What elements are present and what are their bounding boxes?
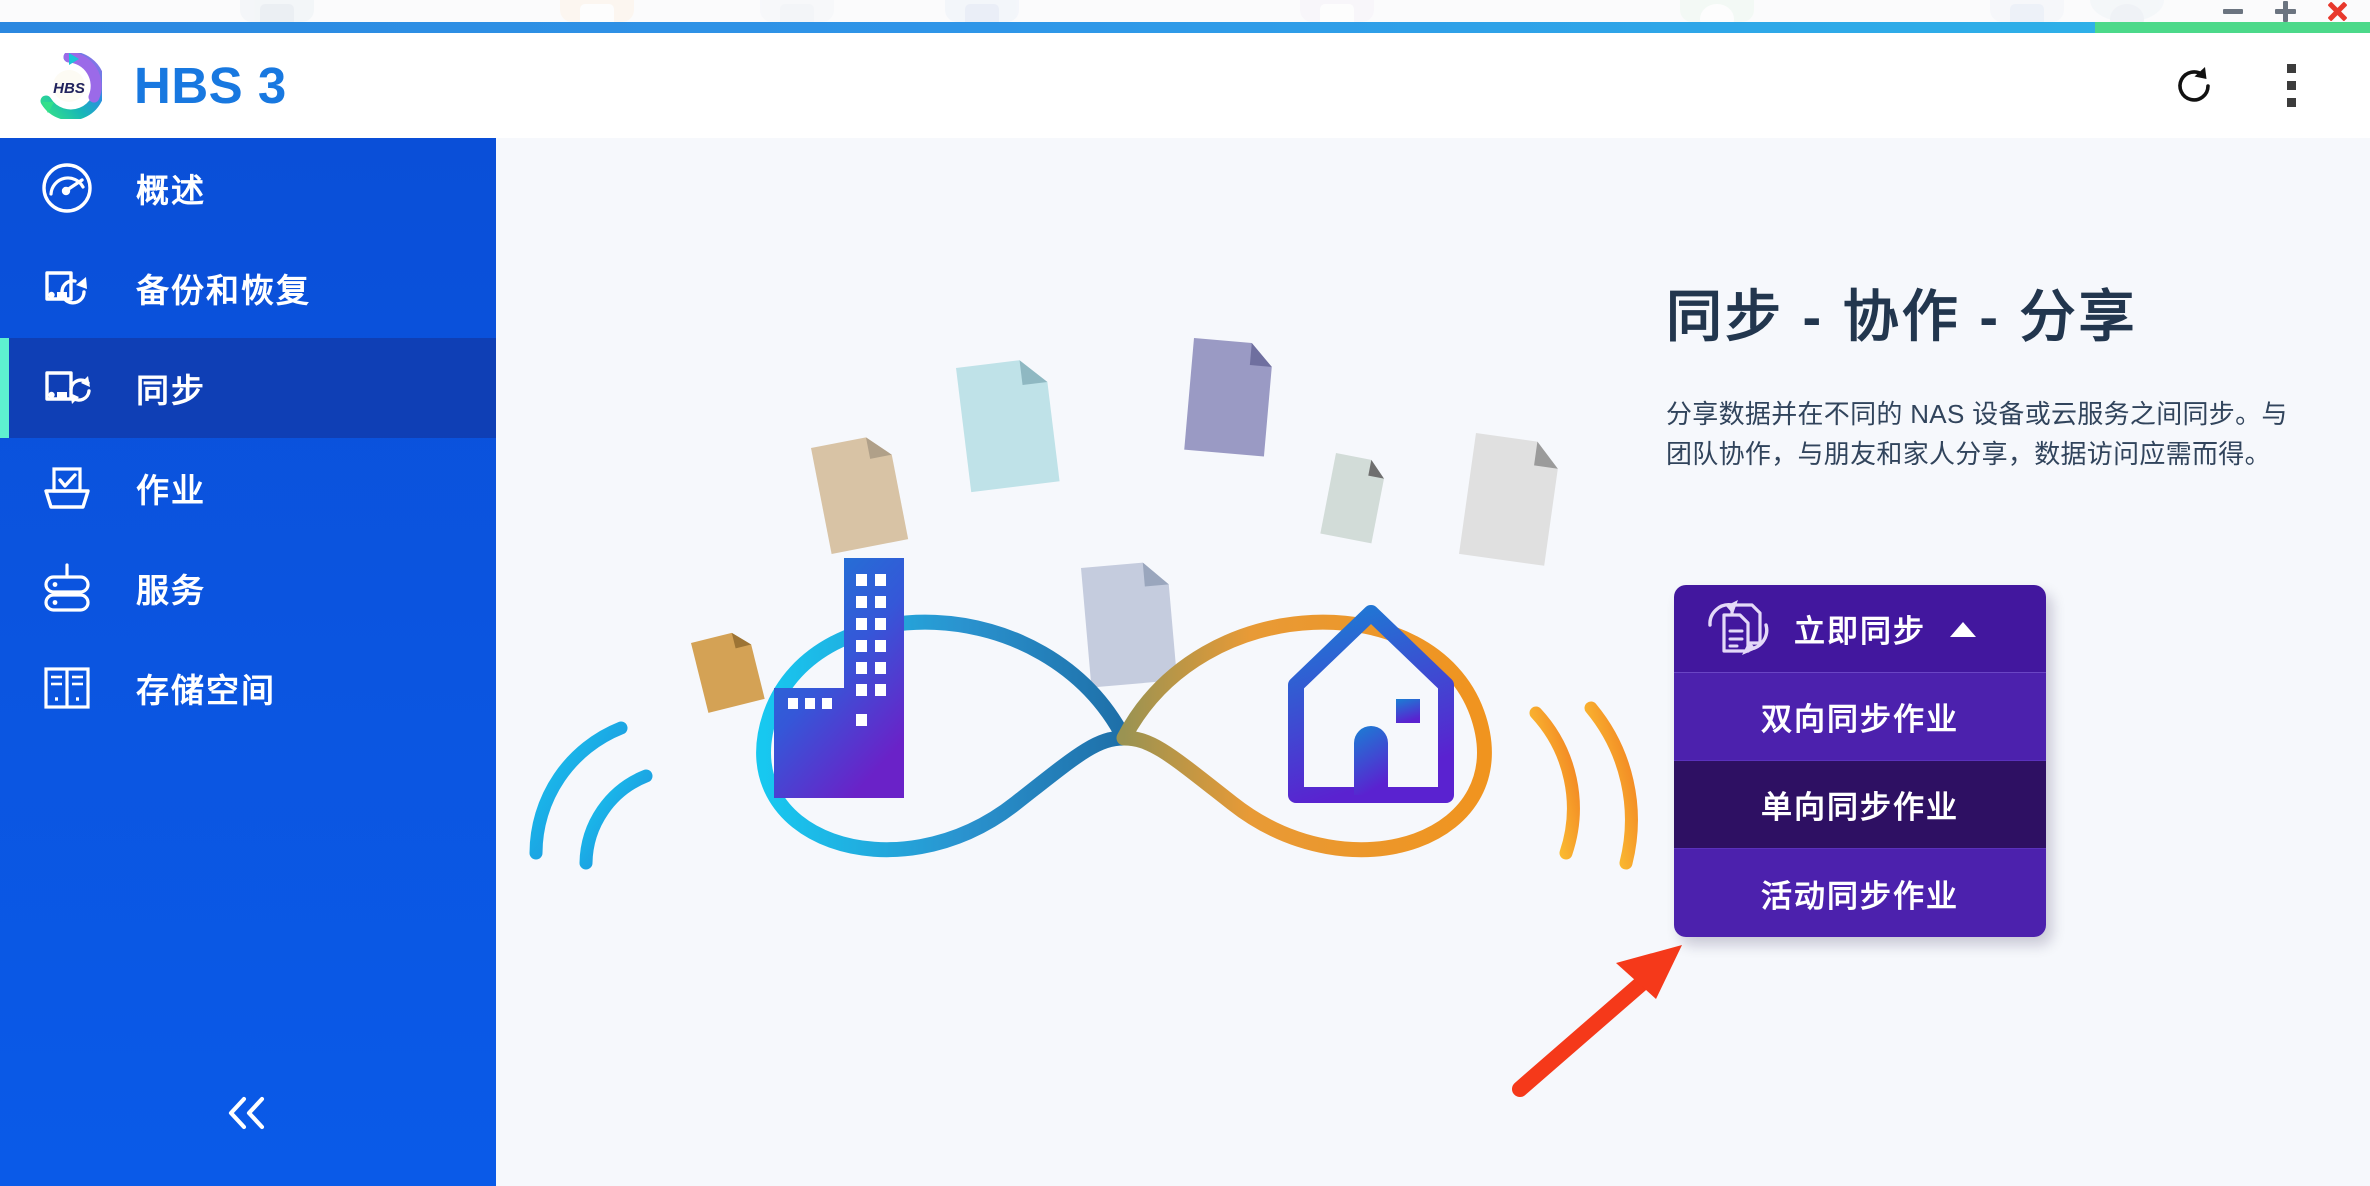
gauge-icon [36, 157, 98, 219]
os-app-icon[interactable] [945, 0, 1019, 22]
os-taskbar-strip [0, 0, 2370, 22]
sidebar-item-backup-restore[interactable]: 备份和恢复 [0, 238, 496, 338]
caret-up-icon[interactable] [1948, 618, 1978, 640]
sidebar-item-jobs[interactable]: 作业 [0, 438, 496, 538]
backup-restore-icon [36, 257, 98, 319]
hbs-logo-icon: HBS [36, 53, 102, 119]
app-header: HBS HBS 3 [0, 33, 2370, 138]
sync-icon [36, 357, 98, 419]
sidebar-item-label: 同步 [136, 364, 206, 412]
sync-now-icon [1702, 597, 1776, 661]
sidebar-item-overview[interactable]: 概述 [0, 138, 496, 238]
signal-arcs-right [1536, 708, 1631, 863]
sidebar-collapse-button[interactable] [0, 1092, 496, 1134]
jobs-icon [36, 457, 98, 519]
sync-now-button[interactable]: 立即同步 [1674, 585, 2046, 673]
sidebar-item-storage[interactable]: 存储空间 [0, 638, 496, 738]
sync-now-label: 立即同步 [1794, 606, 1926, 651]
more-options-icon[interactable] [2274, 64, 2308, 108]
os-app-icon[interactable] [1680, 0, 1754, 22]
menu-item-one-way-sync[interactable]: 单向同步作业 [1674, 761, 2046, 849]
sidebar-item-label: 存储空间 [136, 664, 276, 712]
header-actions [2172, 64, 2308, 108]
accent-bar-blue [0, 22, 2370, 33]
sidebar-item-label: 服务 [136, 564, 206, 612]
menu-item-two-way-sync[interactable]: 双向同步作业 [1674, 673, 2046, 761]
info-panel: 同步 - 协作 - 分享 分享数据并在不同的 NAS 设备或云服务之间同步。与团… [1666, 283, 2326, 475]
services-icon [36, 557, 98, 619]
brand: HBS HBS 3 [36, 53, 287, 119]
hbs-logo-text: HBS [53, 80, 85, 97]
menu-item-active-sync[interactable]: 活动同步作业 [1674, 849, 2046, 937]
window-controls [2220, 0, 2362, 22]
os-app-icon[interactable] [2090, 0, 2164, 22]
sync-infinity-illustration [516, 258, 1646, 898]
main-content: 同步 - 协作 - 分享 分享数据并在不同的 NAS 设备或云服务之间同步。与团… [496, 138, 2370, 1186]
accent-bar-green [2095, 22, 2370, 33]
sidebar-item-sync[interactable]: 同步 [0, 338, 496, 438]
close-button[interactable] [2324, 0, 2350, 22]
os-app-icon[interactable] [1990, 0, 2064, 22]
storage-icon [36, 657, 98, 719]
refresh-icon[interactable] [2172, 64, 2216, 108]
minimize-button[interactable] [2220, 0, 2246, 22]
os-app-icon[interactable] [240, 0, 314, 22]
callout-arrow [1506, 933, 1696, 1103]
app-title: HBS 3 [134, 56, 287, 115]
sidebar-item-label: 概述 [136, 164, 206, 212]
os-app-icon[interactable] [1300, 0, 1374, 22]
page-title: 同步 - 协作 - 分享 [1666, 283, 2326, 350]
sync-now-dropdown: 立即同步 双向同步作业 单向同步作业 活动同步作业 [1674, 585, 2046, 937]
os-app-icon[interactable] [560, 0, 634, 22]
sidebar-item-services[interactable]: 服务 [0, 538, 496, 638]
chevron-double-left-icon [222, 1092, 274, 1134]
sidebar: 概述 备份和恢复 同步 [0, 138, 496, 1186]
page-description: 分享数据并在不同的 NAS 设备或云服务之间同步。与团队协作，与朋友和家人分享，… [1666, 394, 2304, 475]
maximize-button[interactable] [2272, 0, 2298, 22]
os-app-icon[interactable] [760, 0, 834, 22]
sidebar-item-label: 作业 [136, 464, 206, 512]
signal-arcs-left [536, 728, 646, 863]
sidebar-item-label: 备份和恢复 [136, 264, 311, 312]
